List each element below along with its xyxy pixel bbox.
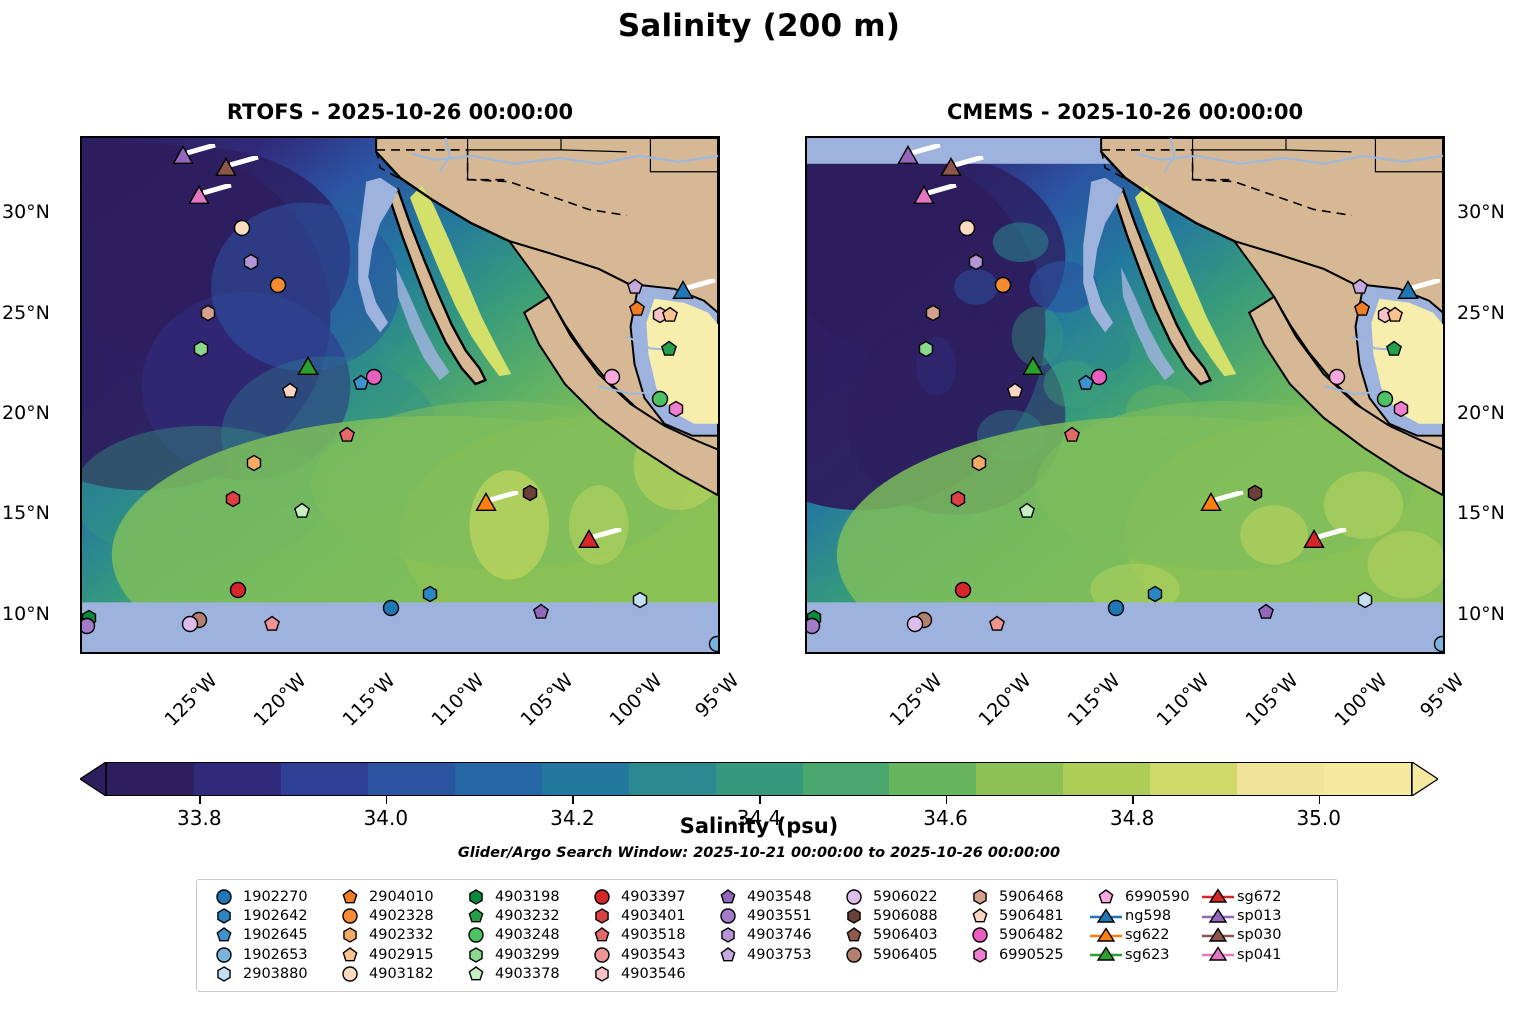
legend-item-5906482[interactable]: 5906482 [963,926,1089,945]
map-marker-sp013[interactable] [173,146,194,167]
map-marker-4902332[interactable] [970,454,989,473]
legend-item-2903880[interactable]: 2903880 [207,965,333,984]
map-marker-5906481[interactable] [1006,381,1025,400]
x-tick-minor [189,136,191,138]
y-tick-minor [718,355,720,357]
x-tick-label: 115°W [1064,669,1125,730]
x-tick-minor [384,652,386,654]
legend-symbol-sg623 [1089,945,1123,964]
legend-symbol-5906403 [837,926,871,945]
x-tick-minor [1020,652,1022,654]
x-tick-label: 100°W [1330,669,1391,730]
map-marker-4902328[interactable] [268,275,287,294]
map-marker-sg672[interactable] [1303,529,1324,550]
x-tick-minor [473,652,475,654]
x-tick-minor [384,136,386,138]
legend-item-4903543[interactable]: 4903543 [585,945,711,964]
colorbar-tick [386,796,388,804]
x-tick-minor [1056,652,1058,654]
x-tick [224,652,226,654]
legend-symbol-4903518 [585,926,619,945]
legend-symbol-6990590 [1089,887,1123,906]
legend-item-sg623[interactable]: sg623 [1089,945,1201,964]
x-tick-minor [633,136,635,138]
map-rtofs[interactable] [80,136,720,654]
x-tick-minor [1091,652,1093,654]
x-tick [949,652,951,654]
x-tick-minor [171,652,173,654]
x-tick-minor [967,136,969,138]
map-coastlines-cmems [807,138,1443,652]
legend-column-0: 19022701902642190264519026532903880 [207,887,333,984]
y-tick-minor [805,335,807,337]
x-tick-minor [686,136,688,138]
map-marker-6990590[interactable] [1327,367,1346,386]
map-marker-sp041[interactable] [914,186,935,207]
y-tick-minor [1443,576,1445,578]
x-tick [491,652,493,654]
y-tick [1443,616,1445,618]
map-marker-4903746[interactable] [966,253,985,272]
legend-item-4903746[interactable]: 4903746 [711,926,837,945]
legend-symbol-5906468 [963,887,997,906]
colorbar-band-7 [716,763,803,795]
map-marker-5906022[interactable] [906,614,925,633]
map-marker-sg622[interactable] [1200,493,1221,514]
map-marker-4903378[interactable] [293,502,312,521]
x-tick-minor [1340,136,1342,138]
legend-item-4903232[interactable]: 4903232 [459,906,585,925]
x-tick-minor [825,652,827,654]
legend-column-4: 4903548490355149037464903753 [711,887,837,984]
map-marker-4903378[interactable] [1018,502,1037,521]
x-tick-minor [1074,652,1076,654]
map-marker-6990525[interactable] [666,400,685,419]
map-marker-sg623[interactable] [297,356,318,377]
colorbar-band-11 [1063,763,1150,795]
map-marker-6990525[interactable] [1391,400,1410,419]
legend-symbol-4903299 [459,945,493,964]
x-tick-minor [438,652,440,654]
x-tick-minor [278,136,280,138]
x-tick-minor [260,136,262,138]
x-tick-minor [1287,652,1289,654]
map-marker-sp030[interactable] [216,158,237,179]
y-tick-minor [718,275,720,277]
legend-item-4903248[interactable]: 4903248 [459,926,585,945]
legend-item-5906468[interactable]: 5906468 [963,887,1089,906]
legend-item-ng598[interactable]: ng598 [1089,906,1201,925]
y-tick-minor [1443,375,1445,377]
map-marker-5906481[interactable] [281,381,300,400]
legend-label: 4903198 [493,889,560,905]
map-marker-ng598[interactable] [672,280,693,301]
glider-track-sp041 [928,184,974,196]
x-tick-minor [242,136,244,138]
map-marker-sg623[interactable] [1022,356,1043,377]
legend-item-4903182[interactable]: 4903182 [333,965,459,984]
legend-symbol-4903548 [711,887,745,906]
map-marker-1902642[interactable] [1146,584,1165,603]
map-marker-4903182[interactable] [233,219,252,238]
panel-title-cmems: CMEMS - 2025-10-26 00:00:00 [805,100,1445,124]
legend-item-5906088[interactable]: 5906088 [837,906,963,925]
map-marker-5906022[interactable] [181,614,200,633]
y-tick-minor [805,576,807,578]
colorbar-band-8 [803,763,890,795]
y-tick [805,616,807,618]
x-tick-minor [615,652,617,654]
x-tick-minor [206,652,208,654]
legend-symbol-5906022 [837,887,871,906]
y-tick-minor [805,254,807,256]
x-tick-minor [1091,136,1093,138]
map-marker-5906088[interactable] [1246,484,1265,503]
map-marker-4903518[interactable] [337,426,356,445]
map-marker-1902653[interactable] [1432,634,1445,653]
y-tick-minor [1443,536,1445,538]
legend-item-5906403[interactable]: 5906403 [837,926,963,945]
map-marker-4902915[interactable] [661,305,680,324]
legend-item-4903551[interactable]: 4903551 [711,906,837,925]
legend-symbol-1902653 [207,945,241,964]
map-marker-sp013[interactable] [898,146,919,167]
legend-symbol-4903378 [459,965,493,984]
y-tick [80,214,82,216]
map-marker-4902328[interactable] [993,275,1012,294]
legend-item-6990590[interactable]: 6990590 [1089,887,1201,906]
x-tick-minor [349,652,351,654]
x-tick-minor [1074,136,1076,138]
legend-item-4903397[interactable]: 4903397 [585,887,711,906]
legend-symbol-6990525 [963,945,997,964]
legend-item-4903378[interactable]: 4903378 [459,965,585,984]
x-tick-minor [331,136,333,138]
legend-label: sg622 [1123,927,1169,943]
y-tick-label: 10°N [2,603,50,625]
map-marker-1902645[interactable] [1077,373,1096,392]
x-tick-minor [896,652,898,654]
x-tick-minor [153,652,155,654]
x-tick-minor [260,652,262,654]
map-marker-5906468[interactable] [199,303,218,322]
legend-item-5906481[interactable]: 5906481 [963,906,1089,925]
x-tick [313,136,315,138]
map-marker-2903880[interactable] [631,590,650,609]
y-tick [718,415,720,417]
y-tick-minor [718,636,720,638]
legend-item-4902328[interactable]: 4902328 [333,906,459,925]
legend-item-4902332[interactable]: 4902332 [333,926,459,945]
map-marker-sg672[interactable] [578,529,599,550]
y-tick-minor [80,375,82,377]
x-tick [949,136,951,138]
legend-label: 2903880 [241,966,308,982]
y-tick-minor [805,536,807,538]
legend-item-5906022[interactable]: 5906022 [837,887,963,906]
x-tick-minor [598,652,600,654]
map-marker-4903543[interactable] [988,614,1007,633]
y-tick-minor [805,636,807,638]
legend-item-4903753[interactable]: 4903753 [711,945,837,964]
map-marker-6990590[interactable] [602,367,621,386]
legend-symbol-ng598 [1089,907,1123,926]
legend-item-1902270[interactable]: 1902270 [207,887,333,906]
y-tick-minor [1443,194,1445,196]
y-tick [1443,214,1445,216]
legend-item-sp030[interactable]: sp030 [1201,926,1313,945]
x-tick-label: 110°W [427,669,488,730]
map-marker-4903401[interactable] [949,490,968,509]
legend-item-1902653[interactable]: 1902653 [207,945,333,964]
map-marker-4903232[interactable] [659,339,678,358]
legend-label: 4903378 [493,966,560,982]
y-tick-minor [1443,435,1445,437]
y-tick-minor [1443,154,1445,156]
x-tick-minor [509,136,511,138]
map-marker-4903182[interactable] [958,219,977,238]
colorbar-gradient [106,762,1412,796]
map-marker-1902653[interactable] [707,634,720,653]
colorbar-extend-min [80,762,106,796]
legend-label: 5906405 [871,947,938,963]
legend-label: 5906482 [997,927,1064,943]
x-tick [135,136,137,138]
x-tick-minor [914,652,916,654]
x-tick-minor [1287,136,1289,138]
legend-symbol-4902915 [333,945,367,964]
x-tick-minor [985,136,987,138]
y-tick [80,616,82,618]
map-marker-1902642[interactable] [421,584,440,603]
x-tick [860,652,862,654]
map-marker-4903543[interactable] [263,614,282,633]
x-tick-label: 100°W [605,669,666,730]
x-tick [669,136,671,138]
legend-item-4903198[interactable]: 4903198 [459,887,585,906]
panel-title-rtofs: RTOFS - 2025-10-26 00:00:00 [80,100,720,124]
y-tick [718,515,720,517]
x-tick-minor [1429,652,1431,654]
map-marker-2903880[interactable] [1356,590,1375,609]
legend-label: 4902332 [367,927,434,943]
x-tick [1394,652,1396,654]
map-marker-4903753[interactable] [625,277,644,296]
legend-item-4903518[interactable]: 4903518 [585,926,711,945]
map-marker-ng598[interactable] [1397,280,1418,301]
x-tick-label: 120°W [975,669,1036,730]
y-tick-minor [805,295,807,297]
map-marker-4902915[interactable] [1386,305,1405,324]
x-tick-label: 105°W [1241,669,1302,730]
x-tick-minor [100,136,102,138]
map-marker-4903299[interactable] [192,339,211,358]
legend-symbol-5906482 [963,926,997,945]
y-tick-minor [80,395,82,397]
x-tick-minor [366,652,368,654]
legend-label: 4903299 [493,947,560,963]
y-tick-minor [80,435,82,437]
x-tick-minor [1109,136,1111,138]
legend-item-2904010[interactable]: 2904010 [333,887,459,906]
x-tick [669,652,671,654]
map-marker-2904010[interactable] [1352,299,1371,318]
x-tick-minor [1323,136,1325,138]
legend-label: 4903518 [619,927,686,943]
y-tick-minor [80,636,82,638]
x-tick-minor [100,652,102,654]
colorbar-band-9 [889,763,976,795]
x-tick-minor [171,136,173,138]
colorbar-tick [1319,796,1321,804]
legend-item-4902915[interactable]: 4902915 [333,945,459,964]
map-marker-5906468[interactable] [924,303,943,322]
map-marker-4903401[interactable] [224,490,243,509]
y-tick-minor [80,275,82,277]
map-marker-2904010[interactable] [627,299,646,318]
map-marker-5906088[interactable] [521,484,540,503]
legend-label: 4903397 [619,889,686,905]
y-tick-minor [805,275,807,277]
legend-item-4903546[interactable]: 4903546 [585,965,711,984]
x-tick-minor [420,136,422,138]
map-marker-4903232[interactable] [1384,339,1403,358]
x-tick [1038,136,1040,138]
search-window-text: Glider/Argo Search Window: 2025-10-21 00… [0,845,1518,861]
map-marker-1902645[interactable] [352,373,371,392]
map-marker-4903746[interactable] [241,253,260,272]
x-tick-minor [931,652,933,654]
map-marker-4903753[interactable] [1350,277,1369,296]
legend-item-sp013[interactable]: sp013 [1201,906,1313,925]
x-tick-minor [1163,652,1165,654]
x-tick [1394,136,1396,138]
map-marker-4903299[interactable] [917,339,936,358]
y-tick-minor [80,194,82,196]
x-tick [1305,652,1307,654]
legend-symbol-sp041 [1201,945,1235,964]
map-marker-sp041[interactable] [189,186,210,207]
y-tick-label: 20°N [2,402,50,424]
x-tick-label: 105°W [516,669,577,730]
legend-column-7: 6990590ng598sg622sg623 [1089,887,1201,984]
legend-label: 1902645 [241,927,308,943]
legend-item-sg672[interactable]: sg672 [1201,887,1313,906]
legend-item-4903299[interactable]: 4903299 [459,945,585,964]
x-tick-minor [633,652,635,654]
x-tick [402,652,404,654]
legend-label: 5906022 [871,889,938,905]
colorbar[interactable]: 33.834.034.234.434.634.835.0 [80,762,1438,796]
colorbar-band-0 [107,763,194,795]
x-tick-minor [1376,652,1378,654]
legend-item-sg622[interactable]: sg622 [1089,926,1201,945]
legend-symbol-4903232 [459,907,493,926]
x-tick-minor [1145,136,1147,138]
legend-symbol-4903397 [585,887,619,906]
map-marker-4903548[interactable] [1256,602,1275,621]
legend-item-4903548[interactable]: 4903548 [711,887,837,906]
y-tick-label: 15°N [1457,502,1505,524]
y-tick-minor [1443,596,1445,598]
y-tick-minor [805,174,807,176]
y-tick-label: 15°N [2,502,50,524]
legend-symbol-1902270 [207,887,241,906]
map-marker-1902270[interactable] [1107,598,1126,617]
x-tick [860,136,862,138]
legend-symbol-4903546 [585,965,619,984]
map-marker-sp030[interactable] [941,158,962,179]
x-tick-minor [843,136,845,138]
x-tick-minor [1003,136,1005,138]
legend-label: 5906088 [871,908,938,924]
map-marker-4903397[interactable] [229,580,248,599]
y-tick-minor [1443,455,1445,457]
legend-symbol-5906405 [837,945,871,964]
y-tick-minor [805,435,807,437]
glider-track-sp030 [955,156,1001,168]
x-tick-minor [651,652,653,654]
map-marker-sg622[interactable] [475,493,496,514]
y-tick-label: 20°N [1457,402,1505,424]
x-tick-minor [1251,136,1253,138]
map-marker-4903551[interactable] [80,616,97,635]
legend-item-5906405[interactable]: 5906405 [837,945,963,964]
map-marker-4903397[interactable] [954,580,973,599]
legend-box[interactable]: 1902270190264219026451902653290388029040… [196,879,1338,992]
x-tick-label: 95°W [691,669,744,722]
legend-item-sp041[interactable]: sp041 [1201,945,1313,964]
map-cmems[interactable] [805,136,1445,654]
legend-label: 1902270 [241,889,308,905]
glider-track-sg672 [593,528,639,540]
legend-item-1902642[interactable]: 1902642 [207,906,333,925]
y-tick-minor [805,375,807,377]
legend-symbol-sp030 [1201,926,1235,945]
colorbar-band-14 [1324,763,1411,795]
legend-symbol-4903248 [459,926,493,945]
legend-symbol-5906088 [837,907,871,926]
map-marker-1902270[interactable] [382,598,401,617]
legend-label: 4902328 [367,908,434,924]
x-tick-minor [1269,136,1271,138]
colorbar-tick [759,796,761,804]
x-tick-minor [1198,136,1200,138]
y-tick [805,214,807,216]
colorbar-band-2 [281,763,368,795]
map-marker-4903551[interactable] [805,616,822,635]
y-tick [718,315,720,317]
y-tick-minor [805,455,807,457]
x-tick-minor [686,652,688,654]
y-tick [1443,415,1445,417]
y-tick [1443,315,1445,317]
x-tick-minor [206,136,208,138]
legend-item-1902645[interactable]: 1902645 [207,926,333,945]
x-tick-minor [1163,136,1165,138]
legend-label: 4903548 [745,889,812,905]
map-marker-4903518[interactable] [1062,426,1081,445]
x-tick-minor [509,652,511,654]
legend-item-4903401[interactable]: 4903401 [585,906,711,925]
map-marker-4902332[interactable] [245,454,264,473]
legend-label: 4903401 [619,908,686,924]
map-marker-4903548[interactable] [531,602,550,621]
legend-item-6990525[interactable]: 6990525 [963,945,1089,964]
x-tick-label: 120°W [250,669,311,730]
x-tick-minor [1411,136,1413,138]
y-tick-minor [805,475,807,477]
